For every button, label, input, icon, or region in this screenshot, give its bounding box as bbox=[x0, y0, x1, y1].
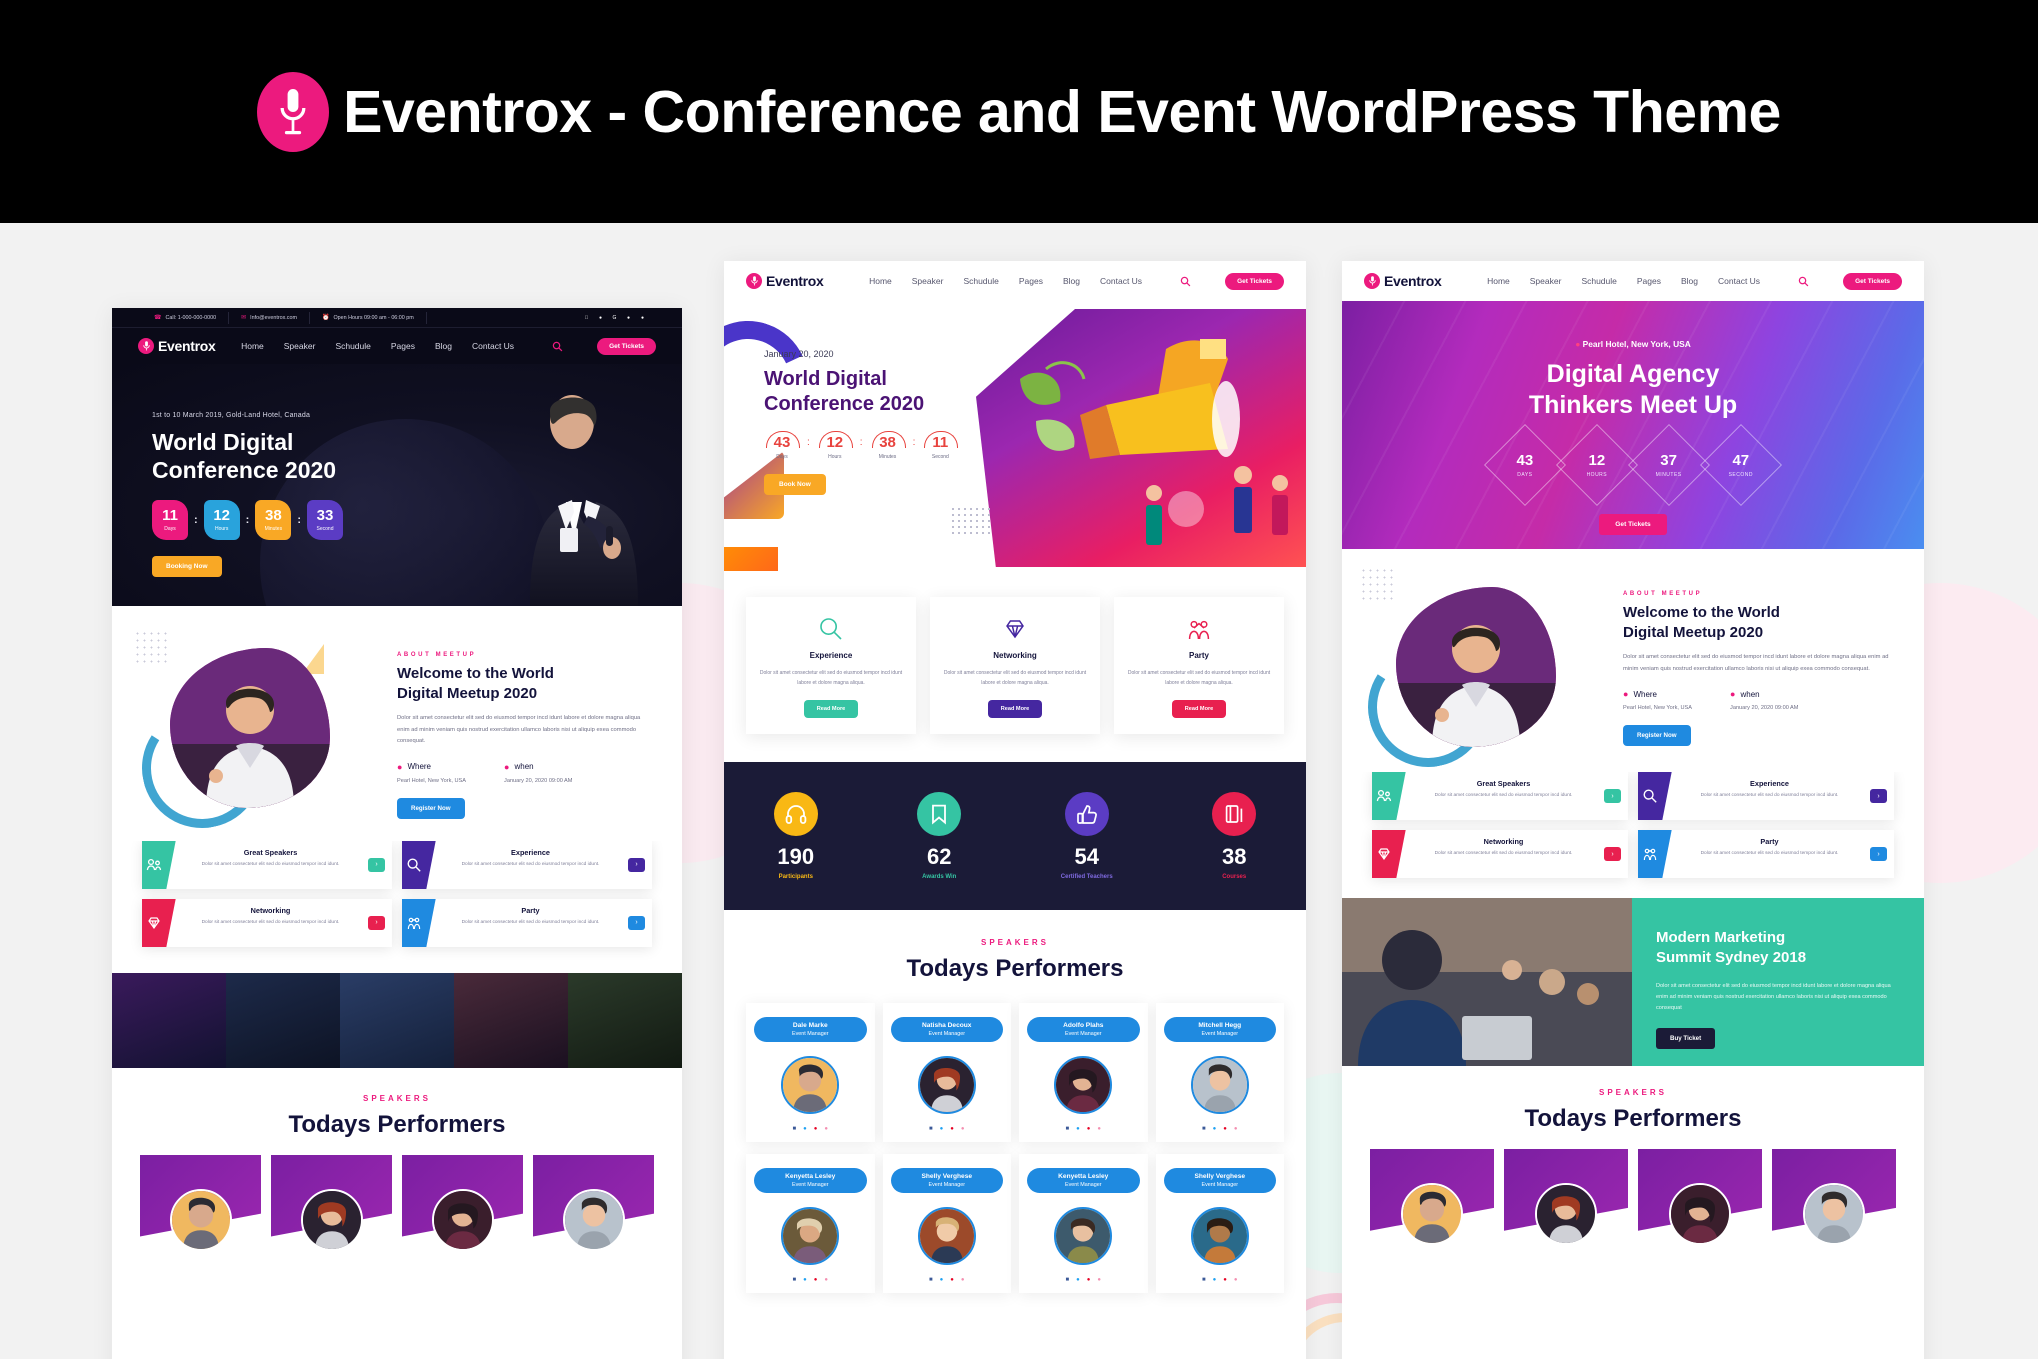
feature-card-great-speakers[interactable]: Great SpeakersDolor sit amet consectetur… bbox=[1372, 772, 1628, 820]
speaker-tag: Kenyetta LesleyEvent Manager bbox=[754, 1168, 867, 1193]
service-card-party[interactable]: Party Dolor sit amet consectetur elit se… bbox=[1114, 597, 1284, 734]
speaker-row-2: Kenyetta LesleyEvent Manager ■●●● Shelly… bbox=[724, 1142, 1306, 1293]
get-tickets-hero-button[interactable]: Get Tickets bbox=[1599, 514, 1666, 535]
hero-eyebrow: 1st to 10 March 2019, Gold-Land Hotel, C… bbox=[152, 412, 343, 419]
search-icon[interactable] bbox=[1180, 276, 1191, 287]
speaker-tag: Shelly VergheseEvent Manager bbox=[891, 1168, 1004, 1193]
nav-links: Home Speaker Schudule Pages Blog Contact… bbox=[1487, 273, 1902, 290]
twitter-icon[interactable]: ● bbox=[1213, 1277, 1217, 1283]
gallery-image bbox=[226, 973, 340, 1068]
topbar: ☎Call: 1-000-000-0000 ✉Info@eventrox.com… bbox=[112, 308, 682, 328]
instagram-icon[interactable]: ● bbox=[824, 1277, 828, 1283]
nav-item-speaker[interactable]: Speaker bbox=[1530, 276, 1562, 286]
hero-title: World Digital Conference 2020 bbox=[764, 367, 958, 417]
gallery-image bbox=[568, 973, 682, 1068]
speaker-card[interactable]: Kenyetta LesleyEvent Manager ■●●● bbox=[1019, 1154, 1148, 1293]
avatar bbox=[918, 1056, 976, 1114]
countdown-hours: 12Hours bbox=[817, 431, 853, 460]
countdown-days: 11Days bbox=[152, 500, 188, 540]
hero-col2: January 20, 2020 World Digital Conferenc… bbox=[724, 301, 1306, 571]
register-now-button[interactable]: Register Now bbox=[1623, 725, 1691, 746]
countdown-minutes: 37MINUTES bbox=[1628, 424, 1710, 506]
countdown-separator: : bbox=[194, 514, 198, 526]
hero-date: January 20, 2020 bbox=[764, 349, 958, 359]
speakers-section-col3: SPEAKERS Todays Performers bbox=[1342, 1066, 1924, 1244]
feature-title: Experience bbox=[439, 848, 622, 857]
location-pin-icon: ● bbox=[397, 762, 402, 772]
get-tickets-button[interactable]: Get Tickets bbox=[1843, 273, 1902, 290]
gallery-image bbox=[454, 973, 568, 1068]
topbar-phone[interactable]: ☎Call: 1-000-000-0000 bbox=[126, 312, 229, 324]
facebook-icon[interactable]: ■ bbox=[793, 1277, 797, 1283]
pinterest-icon[interactable]: ● bbox=[1087, 1126, 1091, 1132]
about-section-col3: ABOUT MEETUP Welcome to the World Digita… bbox=[1342, 549, 1924, 772]
service-desc: Dolor sit amet consectetur elit sed do e… bbox=[758, 668, 904, 688]
nav-item-schudule[interactable]: Schudule bbox=[963, 276, 998, 286]
google-plus-icon[interactable]: G bbox=[611, 314, 618, 321]
countdown-seconds: 11Second bbox=[922, 431, 958, 460]
service-card-networking[interactable]: Networking Dolor sit amet consectetur el… bbox=[930, 597, 1100, 734]
gallery-image bbox=[340, 973, 454, 1068]
read-more-button[interactable]: Read More bbox=[804, 700, 859, 718]
mockup-column-1: ☎Call: 1-000-000-0000 ✉Info@eventrox.com… bbox=[112, 308, 682, 1359]
chevron-right-icon[interactable]: › bbox=[1604, 847, 1621, 861]
navbar-col2: Eventrox Home Speaker Schudule Pages Blo… bbox=[724, 261, 1306, 301]
countdown-separator: : bbox=[297, 514, 301, 526]
features-col3: Great SpeakersDolor sit amet consectetur… bbox=[1342, 772, 1924, 898]
stat-participants: 190 Participants bbox=[774, 792, 818, 880]
stat-label: Awards Win bbox=[917, 874, 961, 880]
speakers-section-col1: SPEAKERS Todays Performers bbox=[112, 1068, 682, 1250]
chevron-right-icon[interactable]: › bbox=[1604, 789, 1621, 803]
chevron-right-icon[interactable]: › bbox=[628, 858, 645, 872]
countdown-hours: 12Hours bbox=[204, 500, 240, 540]
mockup-column-2: Eventrox Home Speaker Schudule Pages Blo… bbox=[724, 261, 1306, 1359]
feature-card-networking[interactable]: NetworkingDolor sit amet consectetur eli… bbox=[1372, 830, 1628, 878]
stat-certified-teachers: 54 Certified Teachers bbox=[1061, 792, 1113, 880]
about-photo bbox=[170, 648, 330, 808]
facebook-icon[interactable]: ■ bbox=[1066, 1126, 1070, 1132]
microphone-icon bbox=[257, 72, 329, 152]
feature-desc: Dolor sit amet consectetur elit sed do e… bbox=[1409, 792, 1598, 801]
social-links: ■●●● bbox=[1019, 1126, 1148, 1132]
speaker-card[interactable]: Natisha DecouxEvent Manager ■●●● bbox=[883, 1003, 1012, 1142]
speaker-thumb[interactable] bbox=[402, 1155, 523, 1250]
nav-item-pages[interactable]: Pages bbox=[1019, 276, 1043, 286]
nav-item-blog[interactable]: Blog bbox=[435, 341, 452, 351]
party-people-icon bbox=[1126, 613, 1272, 645]
feature-desc: Dolor sit amet consectetur elit sed do e… bbox=[1675, 850, 1864, 859]
about-body: Dolor sit amet consectetur elit sed do e… bbox=[397, 713, 652, 748]
twitter-icon[interactable]: ● bbox=[597, 314, 604, 321]
twitter-icon[interactable]: ● bbox=[1076, 1126, 1080, 1132]
social-links: ■●●● bbox=[883, 1126, 1012, 1132]
countdown-minutes: 38Minutes bbox=[870, 431, 906, 460]
hero-title: World Digital Conference 2020 bbox=[152, 428, 343, 484]
nav-links: Home Speaker Schudule Pages Blog Contact… bbox=[869, 273, 1284, 290]
speaker-card[interactable]: Shelly VergheseEvent Manager ■●●● bbox=[1156, 1154, 1285, 1293]
speaker-tag: Kenyetta LesleyEvent Manager bbox=[1027, 1168, 1140, 1193]
chevron-right-icon[interactable]: › bbox=[1870, 847, 1887, 861]
speaker-thumb[interactable] bbox=[271, 1155, 392, 1250]
nav-item-blog[interactable]: Blog bbox=[1063, 276, 1080, 286]
decor-block-orange bbox=[724, 547, 778, 571]
countdown-separator: : bbox=[860, 437, 863, 448]
avatar bbox=[1191, 1207, 1249, 1265]
book-now-button[interactable]: Book Now bbox=[764, 474, 826, 495]
section-title: Todays Performers bbox=[724, 955, 1306, 983]
speaker-thumb[interactable] bbox=[1370, 1149, 1494, 1244]
nav-item-schudule[interactable]: Schudule bbox=[1581, 276, 1616, 286]
social-links: ■●●● bbox=[883, 1277, 1012, 1283]
facebook-icon[interactable]: ■ bbox=[929, 1126, 933, 1132]
instagram-icon[interactable]: ● bbox=[1234, 1126, 1238, 1132]
countdown: 43Days : 12Hours : 38Minutes : 11Second bbox=[764, 431, 958, 460]
about-where: ●Where Pearl Hotel, New York, USA bbox=[1623, 689, 1692, 711]
read-more-button[interactable]: Read More bbox=[988, 700, 1043, 718]
avatar bbox=[432, 1189, 494, 1251]
nav-item-home[interactable]: Home bbox=[1487, 276, 1510, 286]
twitter-icon[interactable]: ● bbox=[940, 1277, 944, 1283]
service-title: Networking bbox=[942, 651, 1088, 660]
speaker-thumb[interactable] bbox=[1772, 1149, 1896, 1244]
pinterest-icon[interactable]: ● bbox=[1223, 1277, 1227, 1283]
hero-col1: 1st to 10 March 2019, Gold-Land Hotel, C… bbox=[112, 364, 682, 606]
facebook-icon[interactable]: ■ bbox=[1202, 1277, 1206, 1283]
countdown-separator: : bbox=[246, 514, 250, 526]
service-card-experience[interactable]: Experience Dolor sit amet consectetur el… bbox=[746, 597, 916, 734]
countdown: 11Days : 12Hours : 38Minutes : 33Second bbox=[152, 500, 343, 540]
nav-item-speaker[interactable]: Speaker bbox=[284, 341, 316, 351]
speaker-row-1: Dale MarkeEvent Manager ■●●● Natisha Dec… bbox=[724, 983, 1306, 1142]
about-label: ABOUT MEETUP bbox=[397, 652, 652, 658]
headphone-icon bbox=[774, 792, 818, 836]
section-label: SPEAKERS bbox=[724, 938, 1306, 947]
nav-item-contact-us[interactable]: Contact Us bbox=[1718, 276, 1760, 286]
instagram-icon[interactable]: ● bbox=[961, 1277, 965, 1283]
service-title: Experience bbox=[758, 651, 904, 660]
speaker-thumb[interactable] bbox=[1638, 1149, 1762, 1244]
nav-item-pages[interactable]: Pages bbox=[1637, 276, 1661, 286]
about-title: Welcome to the World Digital Meetup 2020 bbox=[397, 664, 652, 703]
dribbble-icon[interactable]: ● bbox=[625, 314, 632, 321]
search-icon[interactable] bbox=[1798, 276, 1809, 287]
facebook-icon[interactable]: ■ bbox=[1202, 1126, 1206, 1132]
promo-content: Modern Marketing Summit Sydney 2018 Dolo… bbox=[1632, 898, 1924, 1066]
countdown-minutes: 38Minutes bbox=[255, 500, 291, 540]
feature-card-networking[interactable]: NetworkingDolor sit amet consectetur eli… bbox=[142, 899, 392, 947]
feature-title: Networking bbox=[179, 906, 362, 915]
megaphone-illustration bbox=[976, 309, 1306, 567]
feature-title: Networking bbox=[1409, 837, 1598, 846]
speaker-tag: Adolfo PlahsEvent Manager bbox=[1027, 1017, 1140, 1042]
speaker-card[interactable]: Mitchell HeggEvent Manager ■●●● bbox=[1156, 1003, 1285, 1142]
countdown-seconds: 47SECOND bbox=[1700, 424, 1782, 506]
section-title: Todays Performers bbox=[112, 1111, 682, 1139]
nav-item-schudule[interactable]: Schudule bbox=[335, 341, 370, 351]
nav-item-pages[interactable]: Pages bbox=[391, 341, 415, 351]
twitter-icon[interactable]: ● bbox=[940, 1126, 944, 1132]
location-pin-icon: ● bbox=[1575, 339, 1580, 349]
social-links: ■●●● bbox=[746, 1126, 875, 1132]
nav-item-contact-us[interactable]: Contact Us bbox=[472, 341, 514, 351]
microphone-icon bbox=[1364, 273, 1380, 289]
speaker-photo bbox=[460, 376, 670, 606]
logo[interactable]: Eventrox bbox=[1364, 273, 1442, 289]
social-links: ■●●● bbox=[746, 1277, 875, 1283]
avatar bbox=[1401, 1183, 1463, 1245]
feature-title: Great Speakers bbox=[179, 848, 362, 857]
feature-desc: Dolor sit amet consectetur elit sed do e… bbox=[179, 919, 362, 928]
facebook-icon[interactable]:  bbox=[583, 314, 590, 321]
stat-label: Courses bbox=[1212, 874, 1256, 880]
social-links: ■●●● bbox=[1156, 1277, 1285, 1283]
nav-item-home[interactable]: Home bbox=[869, 276, 892, 286]
about-body: Dolor sit amet consectetur elit sed do e… bbox=[1623, 652, 1898, 675]
mockup-canvas: ☎Call: 1-000-000-0000 ✉Info@eventrox.com… bbox=[0, 223, 2038, 1359]
speaker-thumb[interactable] bbox=[1504, 1149, 1628, 1244]
avatar bbox=[1054, 1056, 1112, 1114]
feature-card-party[interactable]: PartyDolor sit amet consectetur elit sed… bbox=[1638, 830, 1894, 878]
service-desc: Dolor sit amet consectetur elit sed do e… bbox=[942, 668, 1088, 688]
avatar bbox=[1669, 1183, 1731, 1245]
avatar bbox=[1803, 1183, 1865, 1245]
logo[interactable]: Eventrox bbox=[138, 338, 216, 354]
facebook-icon[interactable]: ■ bbox=[793, 1126, 797, 1132]
thumbs-up-icon bbox=[1065, 792, 1109, 836]
instagram-icon[interactable]: ● bbox=[961, 1126, 965, 1132]
feature-title: Party bbox=[439, 906, 622, 915]
nav-item-speaker[interactable]: Speaker bbox=[912, 276, 944, 286]
feature-desc: Dolor sit amet consectetur elit sed do e… bbox=[439, 919, 622, 928]
navbar-col3: Eventrox Home Speaker Schudule Pages Blo… bbox=[1342, 261, 1924, 301]
stat-value: 54 bbox=[1061, 846, 1113, 868]
topbar-hours: ⏰Open Hours 09:00 am - 06:00 pm bbox=[310, 312, 427, 324]
behance-icon[interactable]: ● bbox=[639, 314, 646, 321]
feature-desc: Dolor sit amet consectetur elit sed do e… bbox=[1675, 792, 1864, 801]
countdown-days: 43Days bbox=[764, 431, 800, 460]
about-section-col1: ABOUT MEETUP Welcome to the World Digita… bbox=[112, 606, 682, 841]
logo-text: Eventrox bbox=[766, 273, 824, 289]
stat-value: 38 bbox=[1212, 846, 1256, 868]
speaker-thumb[interactable] bbox=[533, 1155, 654, 1250]
promo-title: Modern Marketing Summit Sydney 2018 bbox=[1656, 928, 1900, 969]
magnifier-icon bbox=[758, 613, 904, 645]
stat-label: Participants bbox=[774, 874, 818, 880]
speaker-card[interactable]: Adolfo PlahsEvent Manager ■●●● bbox=[1019, 1003, 1148, 1142]
avatar bbox=[1054, 1207, 1112, 1265]
feature-card-great-speakers[interactable]: Great SpeakersDolor sit amet consectetur… bbox=[142, 841, 392, 889]
avatar bbox=[781, 1056, 839, 1114]
avatar bbox=[781, 1207, 839, 1265]
chevron-right-icon[interactable]: › bbox=[628, 916, 645, 930]
buy-ticket-button[interactable]: Buy Ticket bbox=[1656, 1028, 1715, 1049]
about-title: Welcome to the World Digital Meetup 2020 bbox=[1623, 603, 1898, 642]
booking-now-button[interactable]: Booking Now bbox=[152, 556, 222, 577]
facebook-icon[interactable]: ■ bbox=[1066, 1277, 1070, 1283]
search-icon[interactable] bbox=[552, 341, 563, 352]
title-banner: Eventrox - Conference and Event WordPres… bbox=[0, 0, 2038, 223]
feature-title: Great Speakers bbox=[1409, 779, 1598, 788]
avatar bbox=[1191, 1056, 1249, 1114]
countdown-hours: 12HOURS bbox=[1556, 424, 1638, 506]
feature-card-party[interactable]: PartyDolor sit amet consectetur elit sed… bbox=[402, 899, 652, 947]
twitter-icon[interactable]: ● bbox=[803, 1126, 807, 1132]
feature-card-experience[interactable]: ExperienceDolor sit amet consectetur eli… bbox=[1638, 772, 1894, 820]
hero-col3: ● Pearl Hotel, New York, USA Digital Age… bbox=[1342, 301, 1924, 549]
avatar bbox=[563, 1189, 625, 1251]
about-label: ABOUT MEETUP bbox=[1623, 591, 1898, 597]
feature-desc: Dolor sit amet consectetur elit sed do e… bbox=[439, 861, 622, 870]
instagram-icon[interactable]: ● bbox=[824, 1126, 828, 1132]
speakers-section-col2: SPEAKERS Todays Performers Dale MarkeEve… bbox=[724, 910, 1306, 1293]
stat-value: 190 bbox=[774, 846, 818, 868]
pinterest-icon[interactable]: ● bbox=[950, 1126, 954, 1132]
features-col1: Great SpeakersDolor sit amet consectetur… bbox=[112, 841, 682, 973]
microphone-icon bbox=[138, 338, 154, 354]
pinterest-icon[interactable]: ● bbox=[814, 1277, 818, 1283]
get-tickets-button[interactable]: Get Tickets bbox=[1225, 273, 1284, 290]
speaker-tag: Dale MarkeEvent Manager bbox=[754, 1017, 867, 1042]
nav-links: Home Speaker Schudule Pages Blog Contact… bbox=[241, 338, 656, 355]
about-when: ●when January 20, 2020 09:00 AM bbox=[1730, 689, 1798, 711]
speaker-card[interactable]: Dale MarkeEvent Manager ■●●● bbox=[746, 1003, 875, 1142]
logo-text: Eventrox bbox=[1384, 273, 1442, 289]
navbar-col1: Eventrox Home Speaker Schudule Pages Blo… bbox=[112, 328, 682, 364]
avatar bbox=[918, 1207, 976, 1265]
speaker-card[interactable]: Shelly VergheseEvent Manager ■●●● bbox=[883, 1154, 1012, 1293]
countdown-seconds: 33Second bbox=[307, 500, 343, 540]
instagram-icon[interactable]: ● bbox=[1097, 1126, 1101, 1132]
logo[interactable]: Eventrox bbox=[746, 273, 824, 289]
pinterest-icon[interactable]: ● bbox=[1223, 1126, 1227, 1132]
promo-banner: Modern Marketing Summit Sydney 2018 Dolo… bbox=[1342, 898, 1924, 1066]
promo-image bbox=[1342, 898, 1632, 1066]
twitter-icon[interactable]: ● bbox=[1213, 1126, 1217, 1132]
microphone-icon bbox=[746, 273, 762, 289]
page-title: Eventrox - Conference and Event WordPres… bbox=[343, 78, 1781, 146]
feature-card-experience[interactable]: ExperienceDolor sit amet consectetur eli… bbox=[402, 841, 652, 889]
avatar bbox=[170, 1189, 232, 1251]
countdown-separator: : bbox=[913, 437, 916, 448]
section-title: Todays Performers bbox=[1342, 1105, 1924, 1133]
location-pin-icon: ● bbox=[1623, 689, 1628, 699]
avatar bbox=[301, 1189, 363, 1251]
facebook-icon[interactable]: ■ bbox=[929, 1277, 933, 1283]
service-desc: Dolor sit amet consectetur elit sed do e… bbox=[1126, 668, 1272, 688]
stats-section: 190 Participants 62 Awards Win 54 Certif… bbox=[724, 762, 1306, 910]
about-photo bbox=[1396, 587, 1556, 747]
register-now-button[interactable]: Register Now bbox=[397, 798, 465, 819]
countdown-days: 43DAYS bbox=[1484, 424, 1566, 506]
mockup-column-3: Eventrox Home Speaker Schudule Pages Blo… bbox=[1342, 261, 1924, 1359]
envelope-icon: ✉ bbox=[241, 314, 246, 321]
gallery-strip bbox=[112, 973, 682, 1068]
chevron-right-icon[interactable]: › bbox=[1870, 789, 1887, 803]
twitter-icon[interactable]: ● bbox=[1076, 1277, 1080, 1283]
chevron-right-icon[interactable]: › bbox=[368, 858, 385, 872]
speaker-tag: Shelly VergheseEvent Manager bbox=[1164, 1168, 1277, 1193]
speaker-thumb[interactable] bbox=[140, 1155, 261, 1250]
section-label: SPEAKERS bbox=[112, 1094, 682, 1103]
clock-icon: ⏰ bbox=[322, 314, 329, 321]
gallery-image bbox=[112, 973, 226, 1068]
pinterest-icon[interactable]: ● bbox=[950, 1277, 954, 1283]
nav-item-home[interactable]: Home bbox=[241, 341, 264, 351]
hero-location: ● Pearl Hotel, New York, USA bbox=[1342, 301, 1924, 349]
pinterest-icon[interactable]: ● bbox=[1087, 1277, 1091, 1283]
hero-title: Digital Agency Thinkers Meet Up bbox=[1342, 359, 1924, 420]
countdown: 43DAYS 12HOURS 37MINUTES 47SECOND bbox=[1342, 436, 1924, 494]
speaker-card[interactable]: Kenyetta LesleyEvent Manager ■●●● bbox=[746, 1154, 875, 1293]
instagram-icon[interactable]: ● bbox=[1097, 1277, 1101, 1283]
feature-desc: Dolor sit amet consectetur elit sed do e… bbox=[1409, 850, 1598, 859]
nav-item-blog[interactable]: Blog bbox=[1681, 276, 1698, 286]
diamond-icon bbox=[942, 613, 1088, 645]
topbar-socials:  ● G ● ● bbox=[583, 314, 668, 321]
chevron-right-icon[interactable]: › bbox=[368, 916, 385, 930]
feature-title: Party bbox=[1675, 837, 1864, 846]
nav-item-contact-us[interactable]: Contact Us bbox=[1100, 276, 1142, 286]
bookmark-icon bbox=[917, 792, 961, 836]
feature-title: Experience bbox=[1675, 779, 1864, 788]
stat-value: 62 bbox=[917, 846, 961, 868]
speaker-tag: Natisha DecouxEvent Manager bbox=[891, 1017, 1004, 1042]
pinterest-icon[interactable]: ● bbox=[814, 1126, 818, 1132]
book-icon bbox=[1212, 792, 1256, 836]
services-col2: Experience Dolor sit amet consectetur el… bbox=[724, 571, 1306, 762]
stat-courses: 38 Courses bbox=[1212, 792, 1256, 880]
about-where: ●Where Pearl Hotel, New York, USA bbox=[397, 762, 466, 784]
twitter-icon[interactable]: ● bbox=[803, 1277, 807, 1283]
read-more-button[interactable]: Read More bbox=[1172, 700, 1227, 718]
instagram-icon[interactable]: ● bbox=[1234, 1277, 1238, 1283]
promo-body: Dolor sit amet consectetur elit sed do e… bbox=[1656, 981, 1900, 1015]
stat-label: Certified Teachers bbox=[1061, 874, 1113, 880]
social-links: ■●●● bbox=[1156, 1126, 1285, 1132]
get-tickets-button[interactable]: Get Tickets bbox=[597, 338, 656, 355]
clock-icon: ● bbox=[1730, 689, 1735, 699]
logo-text: Eventrox bbox=[158, 338, 216, 354]
clock-icon: ● bbox=[504, 762, 509, 772]
topbar-email[interactable]: ✉Info@eventrox.com bbox=[229, 312, 310, 324]
social-links: ■●●● bbox=[1019, 1277, 1148, 1283]
avatar bbox=[1535, 1183, 1597, 1245]
about-when: ●when January 20, 2020 09:00 AM bbox=[504, 762, 572, 784]
phone-icon: ☎ bbox=[154, 314, 161, 321]
stat-awards-win: 62 Awards Win bbox=[917, 792, 961, 880]
feature-desc: Dolor sit amet consectetur elit sed do e… bbox=[179, 861, 362, 870]
section-label: SPEAKERS bbox=[1342, 1088, 1924, 1097]
service-title: Party bbox=[1126, 651, 1272, 660]
speaker-tag: Mitchell HeggEvent Manager bbox=[1164, 1017, 1277, 1042]
countdown-separator: : bbox=[807, 437, 810, 448]
